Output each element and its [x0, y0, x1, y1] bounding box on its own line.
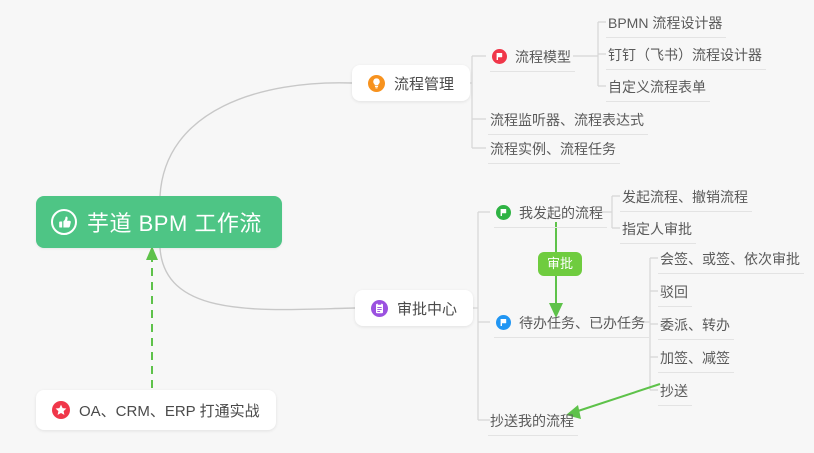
node-label-process-listener-expression: 流程监听器、流程表达式: [490, 110, 644, 130]
node-label-bpmn-designer: BPMN 流程设计器: [608, 13, 722, 33]
node-bpmn-designer[interactable]: BPMN 流程设计器: [606, 8, 726, 38]
node-todo-done-tasks[interactable]: 待办任务、已办任务: [494, 308, 649, 338]
root-label: 芋道 BPM 工作流: [87, 206, 262, 238]
node-reject[interactable]: 驳回: [658, 277, 692, 307]
star-icon: [52, 401, 70, 419]
flag-icon-green: [496, 205, 511, 220]
annotation-chip-approval-label: 审批: [547, 256, 573, 271]
node-assignee-approval[interactable]: 指定人审批: [620, 214, 696, 244]
node-label-cc: 抄送: [660, 381, 688, 401]
node-dingtalk-feishu-designer[interactable]: 钉钉（飞书）流程设计器: [606, 40, 766, 70]
branch-label-approval-center: 审批中心: [397, 298, 457, 319]
node-custom-process-form[interactable]: 自定义流程表单: [606, 72, 710, 102]
node-label-process-instance-task: 流程实例、流程任务: [490, 139, 616, 159]
branch-node-approval-center[interactable]: 审批中心: [355, 290, 473, 326]
connector-root-to-approval-center: [160, 248, 355, 310]
mindmap-canvas: 芋道 BPM 工作流 流程管理 流程模型 BPMN 流程设计器 钉钉（飞书）流程…: [0, 0, 814, 453]
node-label-start-cancel-process: 发起流程、撤销流程: [622, 187, 748, 207]
floating-label-integration-practice: OA、CRM、ERP 打通实战: [79, 400, 260, 421]
flag-icon-red: [492, 49, 507, 64]
node-label-assignee-approval: 指定人审批: [622, 219, 692, 239]
node-add-remove-sign[interactable]: 加签、减签: [658, 343, 734, 373]
annotation-chip-approval[interactable]: 审批: [538, 252, 582, 276]
clipboard-icon: [371, 300, 388, 317]
node-label-countersign-orsign-sequential: 会签、或签、依次审批: [660, 249, 800, 269]
thumbs-up-icon: [51, 209, 77, 235]
connector-process-model-trunk: [573, 22, 606, 86]
node-my-started-processes[interactable]: 我发起的流程: [494, 198, 607, 228]
node-label-process-model: 流程模型: [515, 47, 571, 67]
node-process-listener-expression[interactable]: 流程监听器、流程表达式: [488, 105, 648, 135]
node-label-custom-process-form: 自定义流程表单: [608, 77, 706, 97]
node-label-todo-done-tasks: 待办任务、已办任务: [519, 313, 645, 333]
node-label-reject: 驳回: [660, 282, 688, 302]
branch-label-process-management: 流程管理: [394, 73, 454, 94]
node-process-model[interactable]: 流程模型: [490, 42, 575, 72]
node-label-my-started-processes: 我发起的流程: [519, 203, 603, 223]
root-node[interactable]: 芋道 BPM 工作流: [36, 196, 282, 248]
connector-root-to-process-mgmt: [160, 83, 352, 196]
arrow-cc-to-cc-my-processes: [566, 384, 660, 419]
node-label-add-remove-sign: 加签、减签: [660, 348, 730, 368]
node-start-cancel-process[interactable]: 发起流程、撤销流程: [620, 182, 752, 212]
lightbulb-icon: [368, 75, 385, 92]
node-label-cc-to-me-processes: 抄送我的流程: [490, 411, 574, 431]
arrow-integration-to-root: [146, 246, 158, 388]
node-cc-to-me-processes[interactable]: 抄送我的流程: [488, 406, 578, 436]
node-label-delegate-transfer: 委派、转办: [660, 315, 730, 335]
node-countersign-orsign-sequential[interactable]: 会签、或签、依次审批: [658, 244, 804, 274]
flag-icon-blue: [496, 315, 511, 330]
node-label-dingtalk-feishu-designer: 钉钉（飞书）流程设计器: [608, 45, 762, 65]
node-cc[interactable]: 抄送: [658, 376, 692, 406]
node-process-instance-task[interactable]: 流程实例、流程任务: [488, 134, 620, 164]
branch-node-process-management[interactable]: 流程管理: [352, 65, 470, 101]
floating-node-integration-practice[interactable]: OA、CRM、ERP 打通实战: [36, 390, 276, 430]
node-delegate-transfer[interactable]: 委派、转办: [658, 310, 734, 340]
